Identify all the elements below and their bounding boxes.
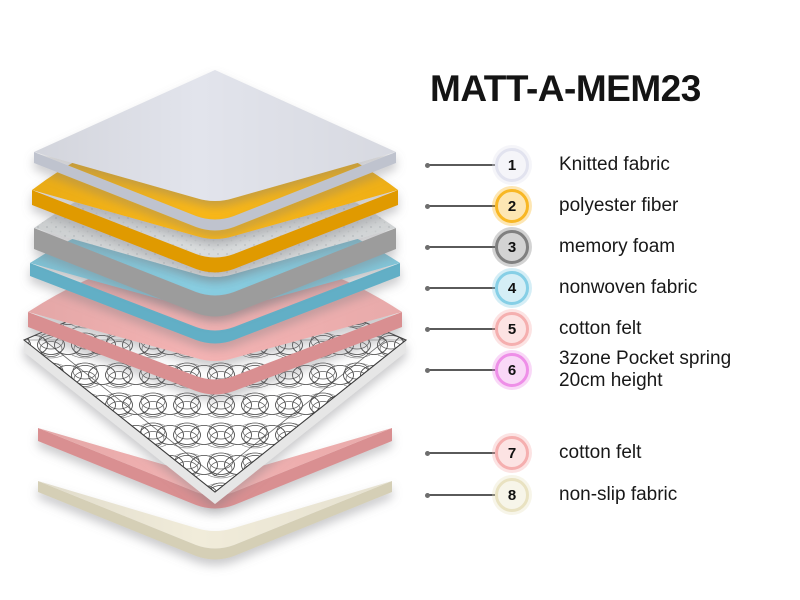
legend-number-2: 2 [508, 199, 516, 214]
legend-badge-3[interactable]: 3 [495, 230, 529, 264]
leader-line-2 [425, 199, 495, 213]
legend-badge-7[interactable]: 7 [495, 436, 529, 470]
legend-number-7: 7 [508, 446, 516, 461]
legend-item-4[interactable]: 4 nonwoven fabric [425, 266, 697, 310]
legend-badge-5[interactable]: 5 [495, 312, 529, 346]
leader-line-5 [425, 322, 495, 336]
legend-number-8: 8 [508, 488, 516, 503]
leader-line-1 [425, 158, 495, 172]
leader-line-6 [425, 363, 495, 377]
legend-number-3: 3 [508, 240, 516, 255]
legend-badge-1[interactable]: 1 [495, 148, 529, 182]
legend-badge-8[interactable]: 8 [495, 478, 529, 512]
legend-item-7[interactable]: 7 cotton felt [425, 431, 641, 475]
legend-label-8: non-slip fabric [559, 484, 677, 506]
legend-list: 1 Knitted fabric 2 polyester fiber 3 mem… [425, 143, 800, 543]
diagram-canvas: MATT-A-MEM23 1 Knitted fabric 2 polyeste… [0, 0, 800, 600]
leader-line-4 [425, 281, 495, 295]
legend-label-1: Knitted fabric [559, 154, 670, 176]
leader-line-8 [425, 488, 495, 502]
legend-item-3[interactable]: 3 memory foam [425, 225, 675, 269]
legend-number-5: 5 [508, 322, 516, 337]
mattress-exploded-diagram [0, 0, 430, 600]
legend-number-6: 6 [508, 363, 516, 378]
product-title: MATT-A-MEM23 [430, 68, 701, 110]
legend-label-7: cotton felt [559, 442, 641, 464]
legend-item-1[interactable]: 1 Knitted fabric [425, 143, 670, 187]
legend-badge-4[interactable]: 4 [495, 271, 529, 305]
legend-item-5[interactable]: 5 cotton felt [425, 307, 641, 351]
leader-line-3 [425, 240, 495, 254]
legend-label-6: 3zone Pocket spring 20cm height [559, 348, 731, 392]
legend-number-4: 4 [508, 281, 516, 296]
legend-label-3: memory foam [559, 236, 675, 258]
legend-badge-2[interactable]: 2 [495, 189, 529, 223]
legend-item-8[interactable]: 8 non-slip fabric [425, 473, 677, 517]
legend-label-5: cotton felt [559, 318, 641, 340]
legend-label-4: nonwoven fabric [559, 277, 697, 299]
legend-number-1: 1 [508, 158, 516, 173]
leader-line-7 [425, 446, 495, 460]
legend-label-2: polyester fiber [559, 195, 678, 217]
legend-badge-6[interactable]: 6 [495, 353, 529, 387]
legend-item-6[interactable]: 6 3zone Pocket spring 20cm height [425, 348, 731, 392]
legend-item-2[interactable]: 2 polyester fiber [425, 184, 678, 228]
